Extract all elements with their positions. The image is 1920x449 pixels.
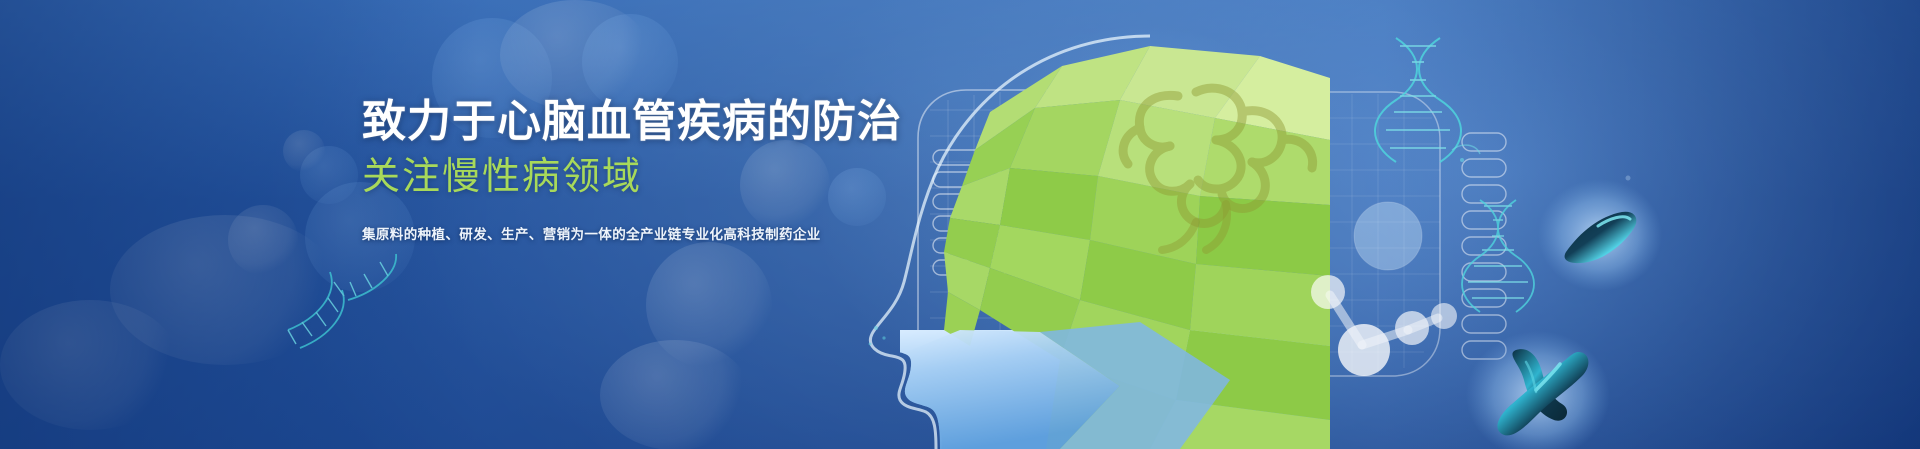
- hero-headline: 致力于心脑血管疾病的防治: [362, 96, 982, 147]
- hero-tagline: 集原料的种植、研发、生产、营销为一体的全产业链专业化高科技制药企业: [362, 223, 982, 243]
- hero-banner: 致力于心脑血管疾病的防治 关注慢性病领域 集原料的种植、研发、生产、营销为一体的…: [0, 0, 1920, 449]
- hero-subline: 关注慢性病领域: [362, 155, 982, 201]
- hero-text-block: 致力于心脑血管疾病的防治 关注慢性病领域 集原料的种植、研发、生产、营销为一体的…: [362, 96, 982, 243]
